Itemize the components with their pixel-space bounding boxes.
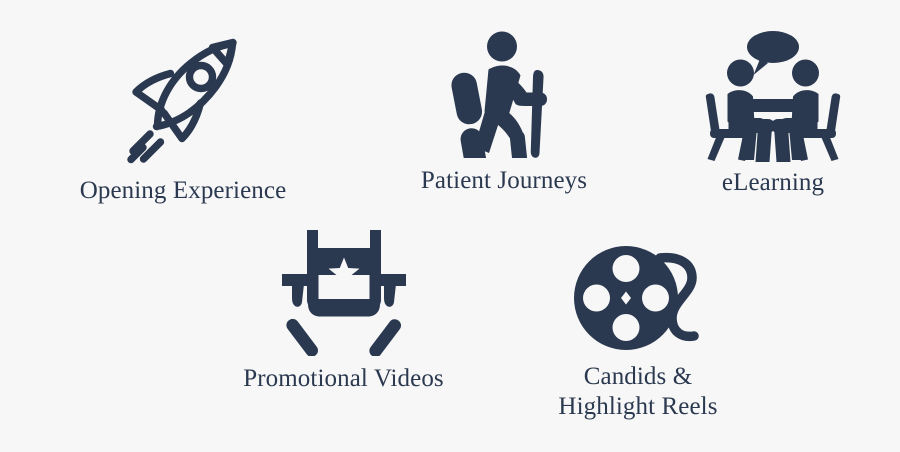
service-card-candids-highlight-reels[interactable]: Candids & Highlight Reels: [540, 240, 736, 421]
service-label: Patient Journeys: [421, 166, 587, 196]
service-label: Opening Experience: [80, 176, 287, 206]
service-label: eLearning: [722, 168, 824, 198]
service-card-promotional-videos[interactable]: Promotional Videos: [222, 228, 465, 394]
service-card-elearning[interactable]: eLearning: [690, 30, 856, 198]
service-label: Promotional Videos: [243, 364, 444, 394]
service-card-patient-journeys[interactable]: Patient Journeys: [390, 30, 618, 196]
director-chair-icon: [280, 228, 408, 356]
rocket-icon: [113, 30, 253, 170]
hiker-icon: [449, 30, 559, 158]
icon-grid: Opening Experience: [0, 0, 900, 452]
two-people-talking-icon: [698, 30, 848, 162]
service-label: Candids & Highlight Reels: [558, 362, 717, 421]
service-card-opening-experience[interactable]: Opening Experience: [30, 30, 336, 206]
film-reel-icon: [568, 240, 708, 358]
